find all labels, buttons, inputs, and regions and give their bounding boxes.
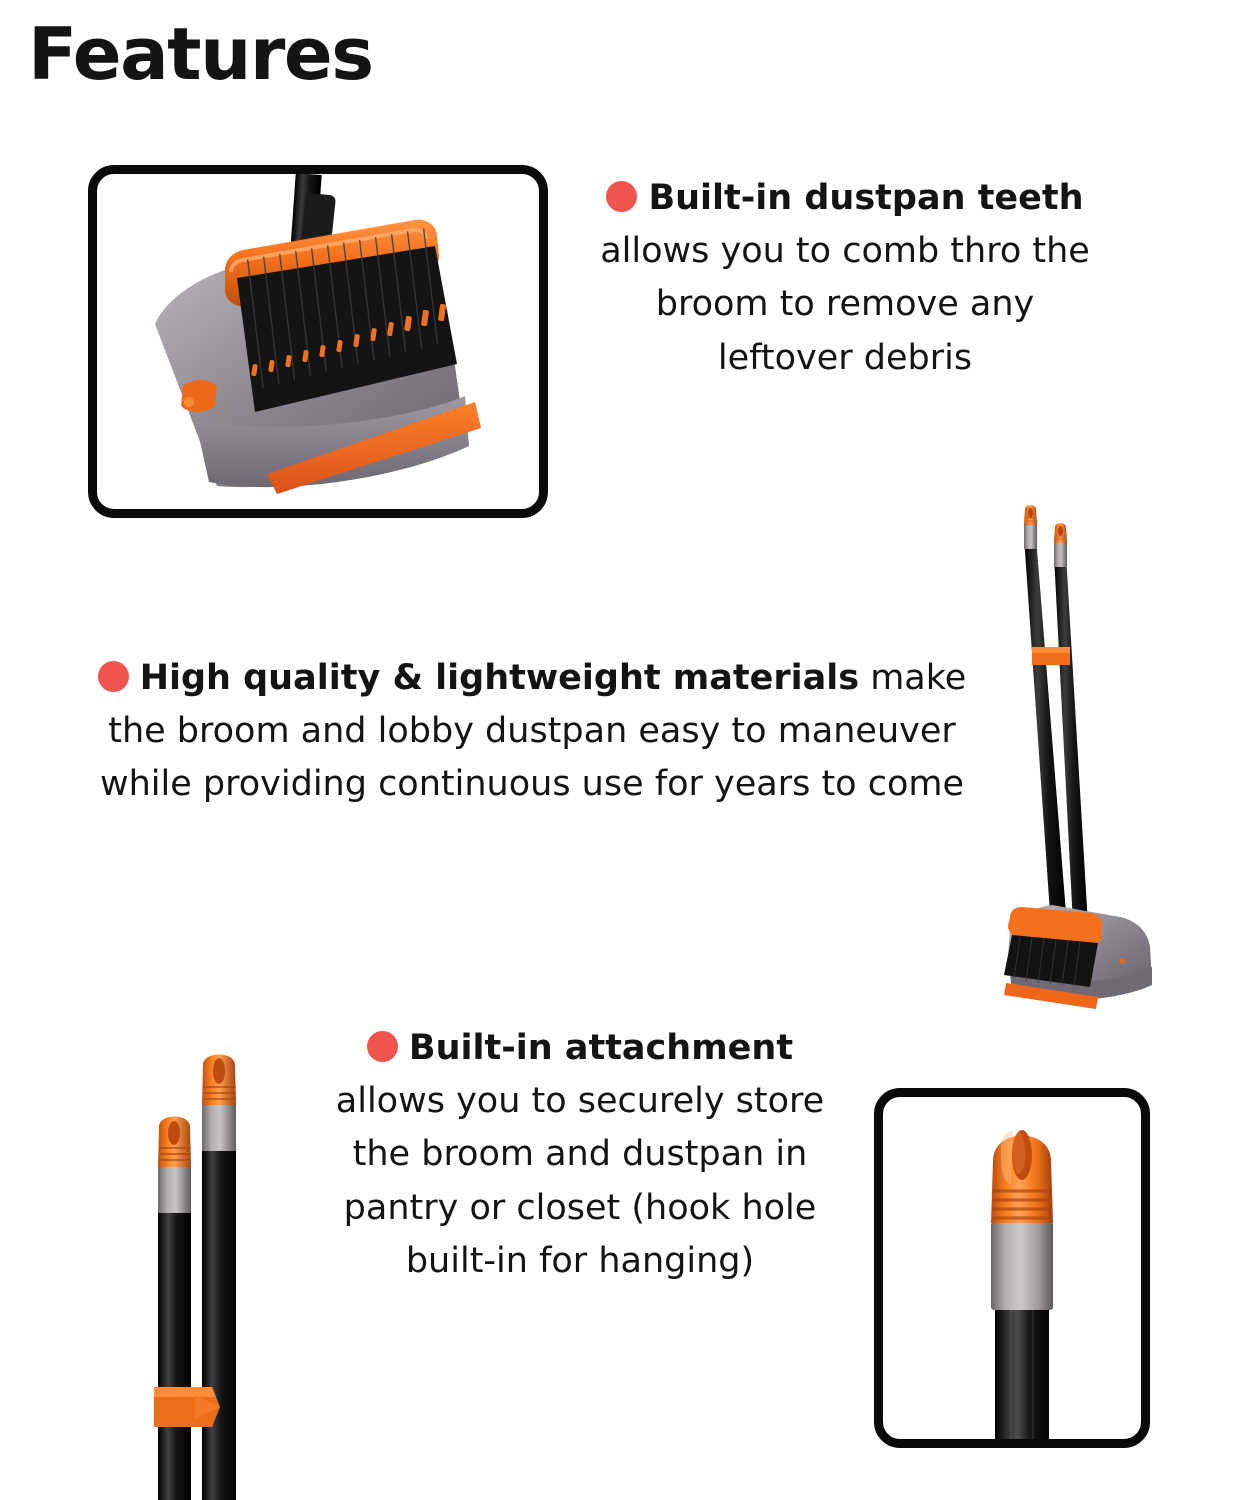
feature-1-strong: Built-in dustpan teeth [648, 178, 1083, 218]
page-title: Features [28, 18, 373, 90]
feature-item-built-in-attachment: Built-in attachment allows you to secure… [330, 1022, 830, 1288]
feature-1-text: Built-in dustpan teeth allows you to com… [600, 172, 1090, 385]
feature-3-rest: allows you to securely store the broom a… [336, 1081, 824, 1281]
feature-3-strong: Built-in attachment [409, 1028, 793, 1068]
red-dot-bullet-icon [98, 661, 129, 692]
attachment-clip-illustration [140, 1035, 330, 1500]
photo-dustpan-teeth-closeup [88, 165, 548, 518]
broom-dustpan-set-illustration [970, 505, 1185, 1025]
hook-hole-handle-illustration [883, 1097, 1141, 1439]
red-dot-bullet-icon [367, 1031, 398, 1062]
feature-item-high-quality-lightweight-materials: High quality & lightweight materials mak… [92, 652, 972, 812]
feature-1-rest: allows you to comb thro the broom to rem… [600, 231, 1090, 377]
photo-hook-hole-handle-closeup [874, 1088, 1150, 1448]
photo-broom-and-dustpan-set [970, 505, 1185, 1025]
feature-item-built-in-dustpan-teeth: Built-in dustpan teeth allows you to com… [600, 172, 1090, 385]
dustpan-teeth-illustration [97, 174, 539, 509]
photo-attachment-clip-closeup [140, 1035, 330, 1500]
features-infographic: Features [0, 0, 1250, 1500]
feature-3-text: Built-in attachment allows you to secure… [330, 1022, 830, 1288]
feature-2-text: High quality & lightweight materials mak… [92, 652, 972, 812]
red-dot-bullet-icon [606, 181, 637, 212]
feature-2-strong: High quality & lightweight materials [140, 658, 859, 698]
